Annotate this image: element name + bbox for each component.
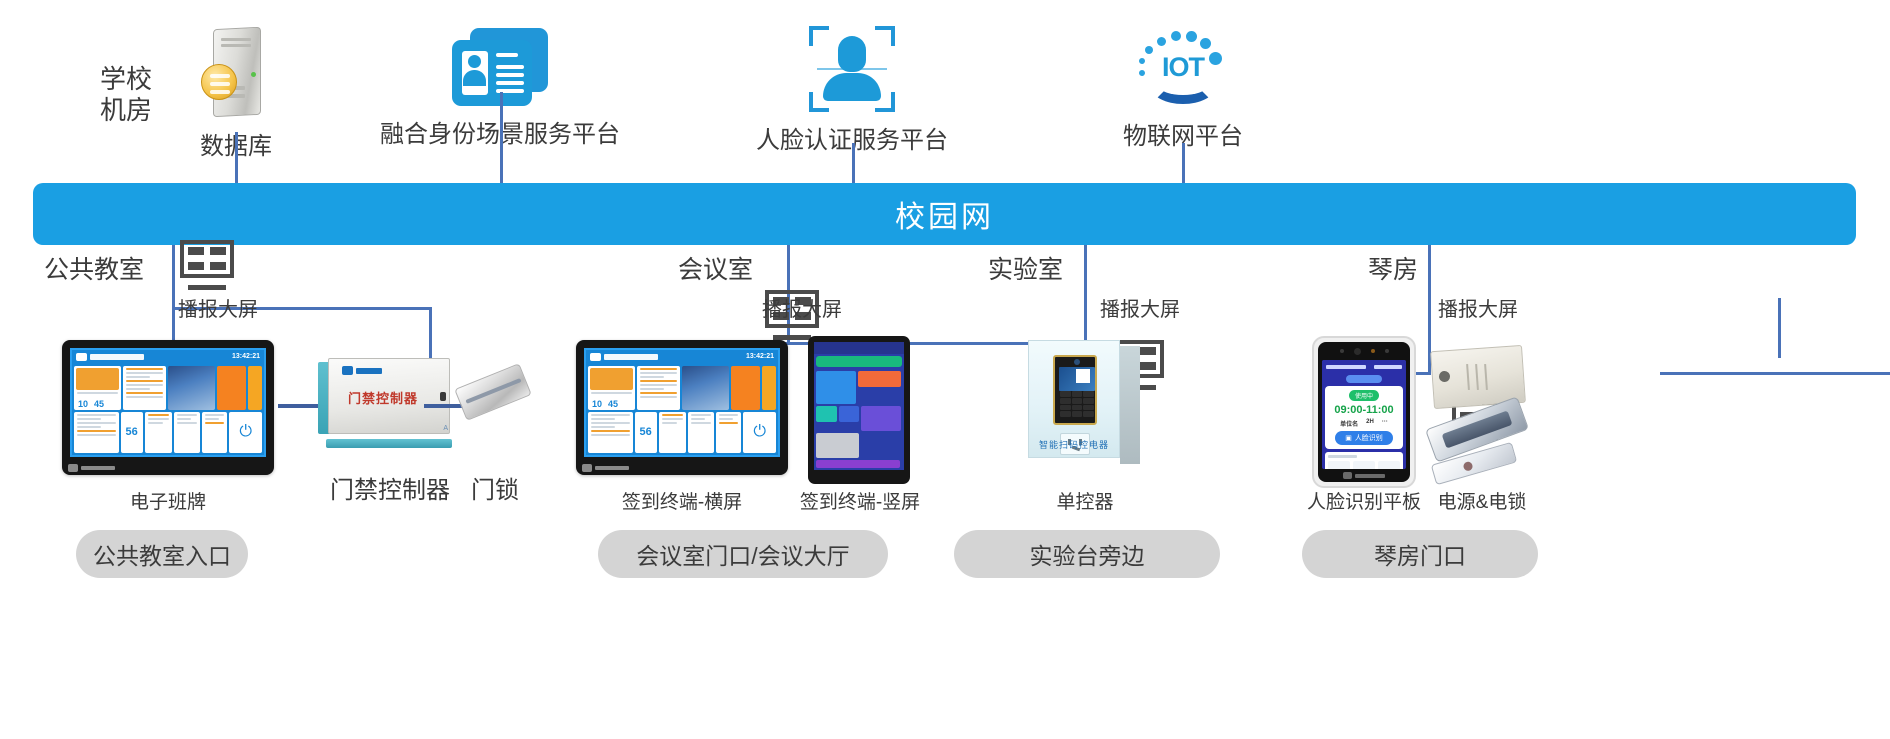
campus-network-bar[interactable]: 校园网 [33,183,1856,245]
iot-icon: IOT [1135,26,1231,110]
face-tablet-stat1: 单位名 [1340,422,1358,428]
device-electronic-class-board[interactable]: 13:42:21 10 45 [62,340,274,475]
connector-identity [500,92,503,183]
class-board-clock: 13:42:21 [232,353,260,360]
connector-database [235,132,238,183]
broadcast-label-zone3: 播报大屏 [1100,293,1180,322]
device-face-recognition-tablet[interactable]: 使用中 09:00-11:00 单位名 2H ··· ▣ 人脸识别 [1312,336,1416,488]
broadcast-screen-icon-zone1 [180,240,234,290]
device-electric-lock[interactable] [1428,412,1526,474]
signin-landscape-clock: 13:42:21 [746,353,774,360]
class-board-num2: 45 [94,399,104,409]
device-label-power-and-lock: 电源&电锁 [1412,487,1552,514]
device-door-lock[interactable] [458,375,528,409]
connector-zone1-trunk [172,245,175,340]
location-pill-lab: 实验台旁边 [954,530,1220,578]
connector-piano-down-bcast [1778,298,1781,358]
zone-label-lab: 实验室 [988,250,1063,286]
class-board-room-code: 56 [126,426,138,438]
broadcast-label-zone4: 播报大屏 [1438,293,1518,322]
signin-landscape-num1: 10 [592,399,602,409]
connector-zone3-trunk [1084,245,1087,342]
campus-network-label: 校园网 [895,192,994,236]
single-controller-body-text: 智能扫码控电器 [1039,438,1109,451]
face-tablet-stat2: 2H [1366,419,1374,425]
server-room-label-line1: 学校 [100,64,152,95]
connector-board-to-controller [278,404,320,408]
device-single-controller[interactable]: 智能扫码控电器 [1028,340,1142,466]
architecture-diagram: 学校 机房 数据库 [0,0,1890,739]
signin-landscape-room-code: 56 [640,426,652,438]
zone-label-piano-room: 琴房 [1368,250,1418,286]
face-scan-icon: ▣ [1345,434,1352,442]
device-power-supply[interactable] [1432,348,1524,406]
zone-label-public-classroom: 公共教室 [44,250,144,286]
device-label-signin-terminal-landscape: 签到终端-横屏 [576,487,788,514]
face-tablet-time-range: 09:00-11:00 [1334,404,1393,416]
device-label-electronic-class-board: 电子班牌 [62,487,274,514]
broadcast-label-zone2: 播报大屏 [762,293,842,322]
face-tablet-status-badge: 使用中 [1349,390,1379,401]
connector-iot [1182,143,1185,183]
face-auth-icon [809,26,895,112]
class-board-num1: 10 [78,399,88,409]
device-signin-terminal-landscape[interactable]: 13:42:21 10 45 [576,340,788,475]
server-room-label: 学校 机房 [100,64,152,125]
location-pill-meeting-room: 会议室门口/会议大厅 [598,530,888,578]
face-tablet-button-label: 人脸识别 [1355,433,1383,443]
server-room-label-line2: 机房 [100,95,152,126]
device-label-signin-terminal-portrait: 签到终端-竖屏 [790,487,930,514]
device-signin-terminal-portrait[interactable] [808,336,910,484]
platform-iot[interactable]: IOT 物联网平台 [1118,26,1248,151]
platform-face-auth[interactable]: 人脸认证服务平台 [742,26,962,155]
zone-label-meeting-room: 会议室 [678,250,753,286]
database-server-icon [199,28,273,120]
broadcast-label-zone1: 播报大屏 [178,293,258,322]
device-label-single-controller: 单控器 [1020,487,1150,514]
device-label-door-lock: 门锁 [440,470,550,505]
connector-face-auth [852,143,855,183]
signin-landscape-num2: 45 [608,399,618,409]
location-pill-piano-room: 琴房门口 [1302,530,1538,578]
access-controller-body-text: 门禁控制器 [348,388,418,407]
face-tablet-recognize-button[interactable]: ▣ 人脸识别 [1335,431,1393,445]
connector-zone4-branch [1660,372,1890,375]
location-pill-public-classroom: 公共教室入口 [76,530,248,578]
device-access-controller[interactable]: 门禁控制器 A [318,352,462,448]
